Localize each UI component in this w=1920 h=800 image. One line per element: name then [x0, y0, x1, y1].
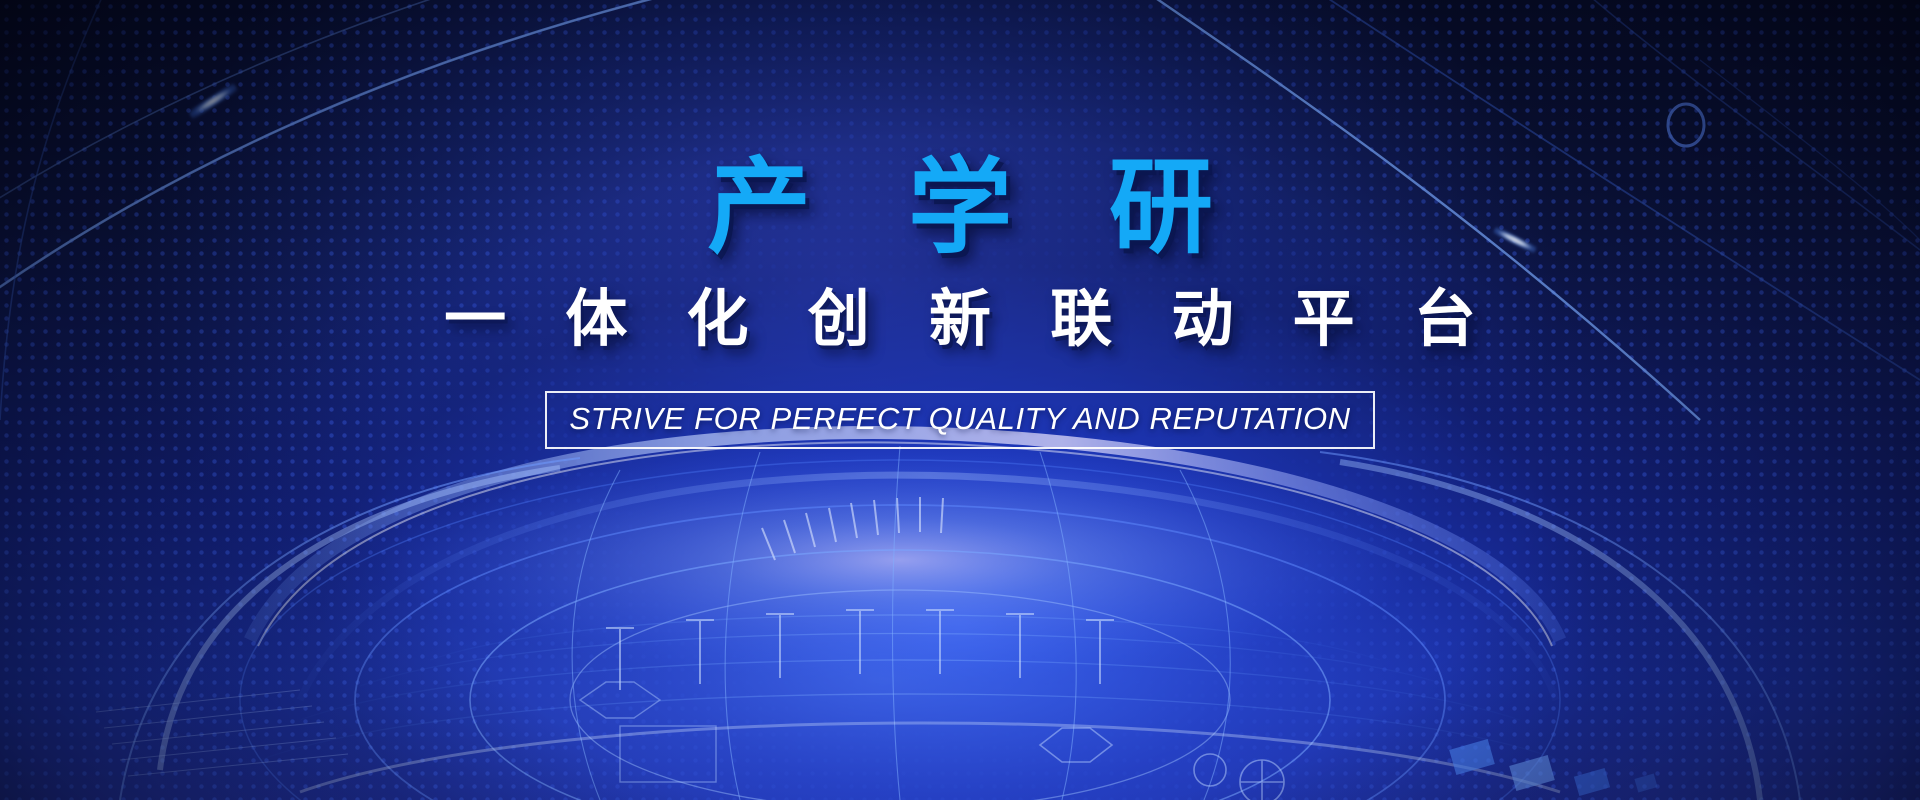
banner-title: 产 学 研: [0, 152, 1920, 264]
banner-subtitle: 一 体 化 创 新 联 动 平 台: [0, 286, 1920, 354]
hero-banner: 产 学 研 一 体 化 创 新 联 动 平 台 STRIVE FOR PERFE…: [0, 0, 1920, 800]
tagline-container: STRIVE FOR PERFECT QUALITY AND REPUTATIO…: [0, 391, 1920, 449]
banner-tagline-en: STRIVE FOR PERFECT QUALITY AND REPUTATIO…: [545, 391, 1374, 449]
banner-content: 产 学 研 一 体 化 创 新 联 动 平 台 STRIVE FOR PERFE…: [0, 0, 1920, 449]
